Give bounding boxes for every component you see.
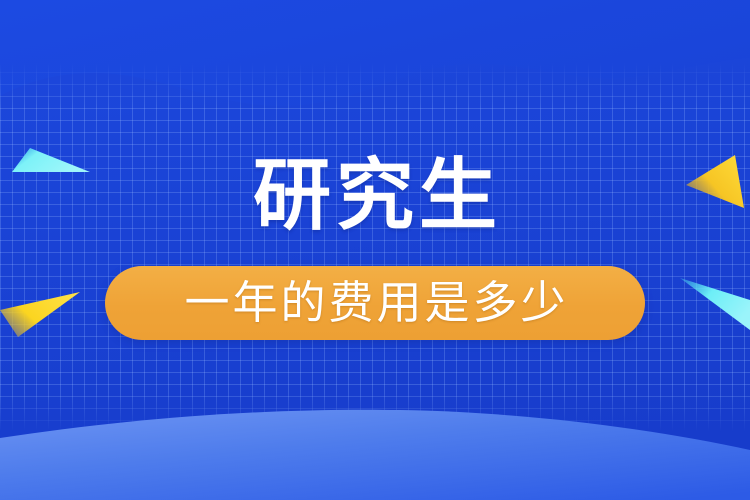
banner-content: 研究生 一年的费用是多少: [0, 0, 750, 500]
page-title: 研究生: [0, 152, 750, 238]
promo-banner: 研究生 一年的费用是多少: [0, 0, 750, 500]
subtitle-text: 一年的费用是多少: [181, 278, 568, 328]
subtitle-pill: 一年的费用是多少: [105, 266, 645, 340]
